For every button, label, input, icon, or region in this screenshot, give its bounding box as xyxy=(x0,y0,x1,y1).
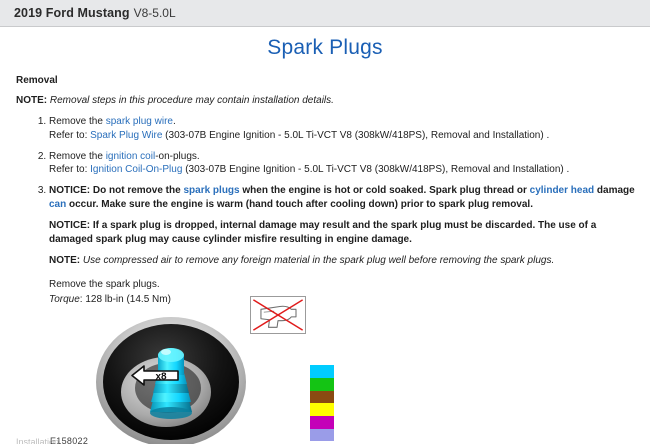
step-2-lead-end: -on-plugs. xyxy=(155,151,199,162)
remove-plugs-instruction: Remove the spark plugs. xyxy=(49,279,160,290)
link-spark-plug-wire-procedure[interactable]: Spark Plug Wire xyxy=(90,130,162,141)
page-title: Spark Plugs xyxy=(14,36,636,60)
callout-arrow-x8: x8 xyxy=(131,364,179,387)
vehicle-engine: V8-5.0L xyxy=(134,6,176,20)
intro-note-text: Removal steps in this procedure may cont… xyxy=(50,95,334,106)
list-item: NOTICE: Do not remove the spark plugs wh… xyxy=(49,184,636,307)
intro-note-label: NOTE: xyxy=(16,95,47,106)
link-spark-plug-wire[interactable]: spark plug wire xyxy=(106,116,173,127)
notice-2-text: If a spark plug is dropped, internal dam… xyxy=(49,220,596,245)
link-ignition-coil[interactable]: ignition coil xyxy=(106,151,155,162)
remove-plugs-instruction-block: Remove the spark plugs. Torque: 128 lb-i… xyxy=(49,278,636,307)
step-1-lead: Remove the xyxy=(49,116,106,127)
legend-swatch-brown xyxy=(310,391,334,404)
intro-note: NOTE: Removal steps in this procedure ma… xyxy=(16,95,636,106)
notice-1-part1: Do not remove the xyxy=(90,185,183,196)
step-2-refer-label: Refer to: xyxy=(49,164,87,175)
note-compressed-air: NOTE: Use compressed air to remove any f… xyxy=(49,254,636,268)
notice-1-label: NOTICE: xyxy=(49,185,90,196)
color-legend-bar xyxy=(310,365,334,441)
notice-1-part2: when the engine is hot or cold soaked. S… xyxy=(240,185,530,196)
step-1-refer-label: Refer to: xyxy=(49,130,87,141)
list-item: Remove the spark plug wire. Refer to: Sp… xyxy=(49,115,636,143)
link-spark-plugs[interactable]: spark plugs xyxy=(183,185,239,196)
legend-swatch-magenta xyxy=(310,416,334,429)
no-impact-wrench-icon xyxy=(251,297,305,333)
notice-dropped-plug: NOTICE: If a spark plug is dropped, inte… xyxy=(49,219,636,247)
link-can[interactable]: can xyxy=(49,199,66,210)
legend-swatch-cyan xyxy=(310,365,334,378)
section-heading-removal: Removal xyxy=(16,75,636,86)
note-air-label: NOTE: xyxy=(49,255,80,266)
figure-spark-plug-location: x8 E158022 xyxy=(14,314,636,444)
torque-label: Torque xyxy=(49,294,80,305)
notice-2-label: NOTICE: xyxy=(49,220,90,231)
next-section-cut-off: Installation xyxy=(16,437,59,444)
step-2-lead: Remove the xyxy=(49,151,106,162)
step-2-refer: Refer to: Ignition Coil-On-Plug (303-07B… xyxy=(49,163,636,177)
vehicle-name: 2019 Ford Mustang xyxy=(14,6,130,20)
document-content: Spark Plugs Removal NOTE: Removal steps … xyxy=(0,36,650,444)
notice-1-part3: damage xyxy=(594,185,635,196)
legend-swatch-purple xyxy=(310,429,334,442)
notice-1-part4: occur. Make sure the engine is warm (han… xyxy=(66,199,533,210)
legend-swatch-yellow xyxy=(310,403,334,416)
callout-label-x8: x8 xyxy=(155,372,167,383)
removal-steps-list: Remove the spark plug wire. Refer to: Sp… xyxy=(14,115,636,307)
note-air-text: Use compressed air to remove any foreign… xyxy=(83,255,554,266)
list-item: Remove the ignition coil-on-plugs. Refer… xyxy=(49,150,636,178)
no-impact-wrench-box xyxy=(250,296,306,334)
document-page: 2019 Ford Mustang V8-5.0L Spark Plugs Re… xyxy=(0,0,650,444)
torque-value: : 128 lb-in (14.5 Nm) xyxy=(80,294,171,305)
step-1-refer: Refer to: Spark Plug Wire (303-07B Engin… xyxy=(49,129,636,143)
link-ignition-coil-on-plug-procedure[interactable]: Ignition Coil-On-Plug xyxy=(90,164,182,175)
step-1-lead-end: . xyxy=(173,116,176,127)
step-2-refer-detail: (303-07B Engine Ignition - 5.0L Ti-VCT V… xyxy=(185,164,569,175)
step-1-refer-detail: (303-07B Engine Ignition - 5.0L Ti-VCT V… xyxy=(165,130,549,141)
vehicle-header-bar: 2019 Ford Mustang V8-5.0L xyxy=(0,0,650,27)
link-cylinder-head[interactable]: cylinder head xyxy=(530,185,594,196)
notice-hot-engine: NOTICE: Do not remove the spark plugs wh… xyxy=(49,184,636,212)
legend-swatch-green xyxy=(310,378,334,391)
